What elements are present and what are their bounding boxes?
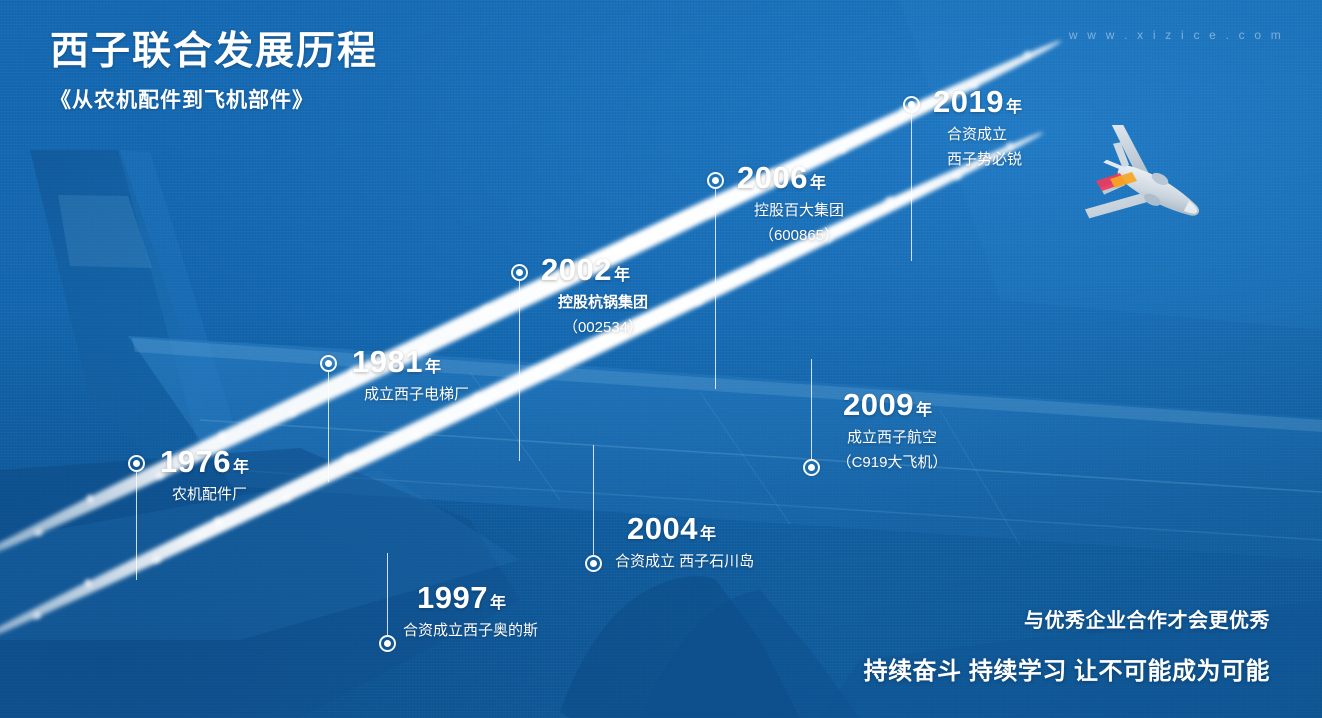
timeline-desc-line: 合资成立	[947, 124, 1022, 146]
timeline-desc-line: 合资成立 西子石川岛	[615, 551, 754, 573]
timeline-year-number: 1976	[160, 444, 231, 479]
timeline-dot-icon[interactable]	[585, 555, 602, 572]
timeline-year: 1997年	[417, 582, 538, 613]
slogan-block: 与优秀企业合作才会更优秀 持续奋斗 持续学习 让不可能成为可能	[864, 604, 1270, 686]
slogan-secondary: 持续奋斗 持续学习 让不可能成为可能	[864, 651, 1270, 686]
timeline-dot-icon[interactable]	[379, 635, 396, 652]
slogan-primary: 与优秀企业合作才会更优秀	[864, 604, 1270, 633]
timeline-stem	[387, 553, 388, 635]
timeline-stem	[911, 113, 912, 261]
timeline-year-suffix: 年	[700, 526, 717, 543]
timeline-dot-icon[interactable]	[128, 455, 145, 472]
timeline-year-suffix: 年	[1006, 99, 1023, 116]
timeline-desc-line: （600865）	[737, 225, 861, 247]
timeline-stem	[136, 472, 137, 580]
timeline-event-text: 2006年 控股百大集团 （600865）	[737, 162, 861, 247]
timeline-year: 2004年	[627, 513, 754, 544]
timeline-desc-line: 成立西子航空	[823, 427, 961, 449]
timeline-dot-icon[interactable]	[707, 172, 724, 189]
timeline-year-number: 2009	[843, 387, 914, 422]
timeline-event-text: 2002年 控股杭锅集团 （002534）	[541, 254, 665, 339]
timeline-dot-icon[interactable]	[511, 264, 528, 281]
timeline-dot-icon[interactable]	[903, 96, 920, 113]
timeline-year-number: 2004	[627, 511, 698, 546]
timeline-event-text: 2019年 合资成立 西子势必锐	[933, 86, 1022, 171]
infographic-canvas: 西子联合发展历程 《从农机配件到飞机部件》 w w w . x i z i c …	[0, 0, 1322, 718]
timeline-year: 2002年	[541, 254, 665, 285]
timeline-year-suffix: 年	[614, 267, 631, 284]
timeline-year-suffix: 年	[425, 359, 442, 376]
timeline-year-suffix: 年	[916, 402, 933, 419]
timeline-year-number: 1997	[417, 580, 488, 615]
timeline-year: 2006年	[737, 162, 861, 193]
page-subtitle: 《从农机配件到飞机部件》	[50, 84, 378, 114]
timeline-year-suffix: 年	[810, 175, 827, 192]
timeline-event-text: 2009年 成立西子航空 （C919大飞机）	[823, 389, 961, 474]
timeline-desc-line: 控股百大集团	[737, 200, 861, 222]
timeline-dot-icon[interactable]	[803, 459, 820, 476]
timeline-year-number: 2019	[933, 84, 1004, 119]
timeline-stem	[811, 359, 812, 459]
page-title: 西子联合发展历程	[50, 30, 378, 75]
timeline-desc-line: 西子势必锐	[947, 149, 1022, 171]
timeline-year-number: 1981	[352, 344, 423, 379]
timeline-stem	[593, 445, 594, 555]
timeline-event-text: 1997年 合资成立西子奥的斯	[403, 582, 538, 642]
timeline-event-text: 1981年 成立西子电梯厂	[352, 346, 469, 406]
timeline-year-number: 2002	[541, 252, 612, 287]
timeline-desc-line: 控股杭锅集团	[541, 292, 665, 314]
timeline-desc-line: 成立西子电梯厂	[364, 384, 469, 406]
timeline-year-suffix: 年	[233, 459, 250, 476]
timeline-year-number: 2006	[737, 160, 808, 195]
timeline-stem	[328, 372, 329, 482]
timeline-event-text: 2004年 合资成立 西子石川岛	[615, 513, 754, 573]
airplane-icon	[1060, 125, 1240, 245]
timeline-year: 2019年	[933, 86, 1022, 117]
timeline-desc-line: （C919大飞机）	[823, 452, 961, 474]
timeline-event-text: 1976年 农机配件厂	[160, 446, 249, 506]
timeline-dot-icon[interactable]	[320, 355, 337, 372]
timeline-stem	[519, 281, 520, 461]
timeline-stem	[715, 189, 716, 389]
timeline-year-suffix: 年	[490, 595, 507, 612]
timeline-desc-line: （002534）	[541, 317, 665, 339]
header-block: 西子联合发展历程 《从农机配件到飞机部件》	[50, 30, 378, 114]
timeline-year: 2009年	[843, 389, 961, 420]
timeline-desc-line: 农机配件厂	[172, 484, 249, 506]
timeline-year: 1981年	[352, 346, 469, 377]
timeline-desc-line: 合资成立西子奥的斯	[403, 620, 538, 642]
site-watermark: w w w . x i z i c e . c o m	[1069, 28, 1284, 42]
timeline-year: 1976年	[160, 446, 249, 477]
